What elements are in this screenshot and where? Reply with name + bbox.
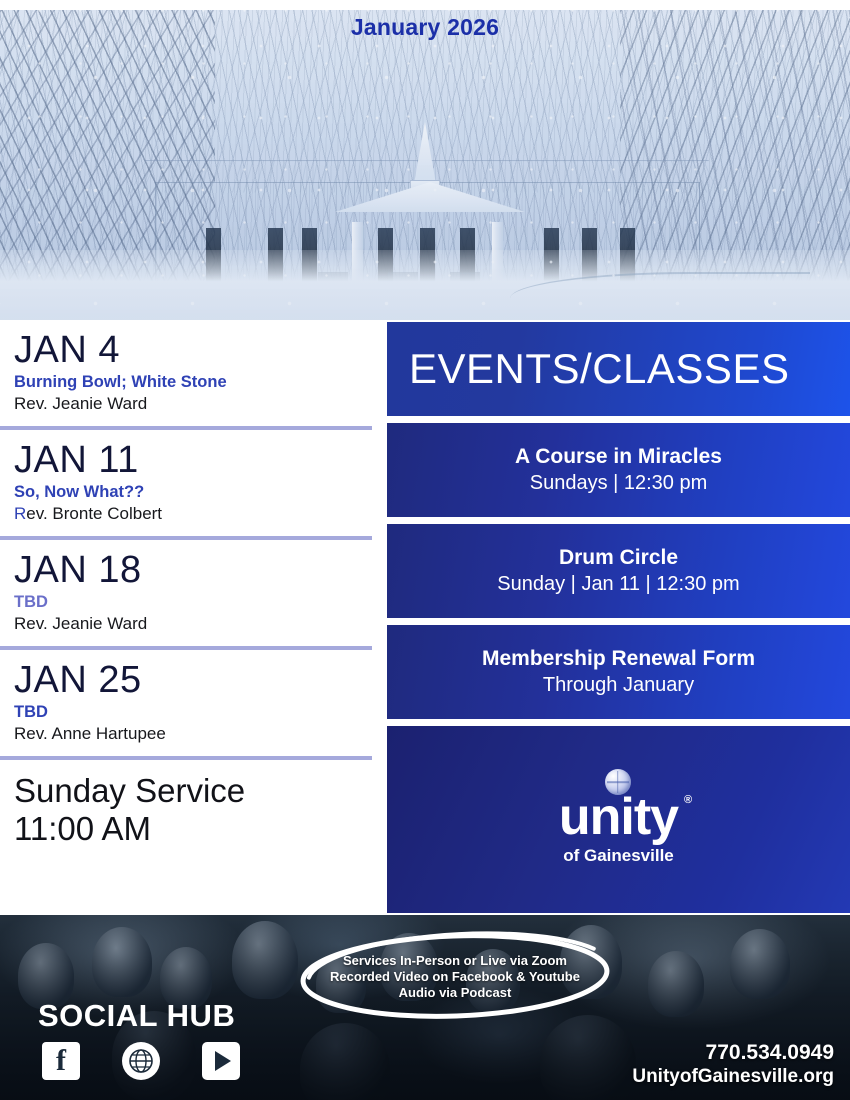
service-speaker-initial: R: [14, 504, 26, 523]
service-date: JAN 25: [14, 660, 364, 701]
event-subtitle: Sundays | 12:30 pm: [530, 470, 708, 496]
service-speaker: Rev. Jeanie Ward: [14, 394, 364, 414]
unity-logo: unity® of Gainesville: [519, 773, 719, 866]
hero-photo: [0, 10, 850, 320]
page-title: January 2026: [0, 14, 850, 41]
unity-wordmark: unity®: [559, 791, 678, 843]
event-subtitle: Sunday | Jan 11 | 12:30 pm: [497, 571, 739, 597]
unity-location-label: of Gainesville: [519, 846, 719, 866]
events-header: EVENTS/CLASSES: [387, 322, 850, 416]
service-entry: JAN 25 TBD Rev. Anne Hartupee: [0, 656, 378, 750]
service-speaker: Rev. Jeanie Ward: [14, 614, 364, 634]
broadcast-line-2: Recorded Video on Facebook & Youtube: [330, 969, 580, 984]
event-card[interactable]: Membership Renewal Form Through January: [387, 625, 850, 719]
broadcast-info-callout: Services In-Person or Live via Zoom Reco…: [295, 930, 615, 1022]
service-topic: So, Now What??: [14, 483, 364, 502]
section-divider: [0, 756, 372, 760]
facebook-icon[interactable]: f: [42, 1042, 80, 1080]
services-column: JAN 4 Burning Bowl; White Stone Rev. Jea…: [0, 322, 378, 914]
phone-number[interactable]: 770.534.0949: [632, 1040, 834, 1065]
service-entry: JAN 11 So, Now What?? Rev. Bronte Colber…: [0, 436, 378, 530]
event-title: Drum Circle: [559, 545, 678, 570]
service-date: JAN 4: [14, 330, 364, 371]
broadcast-info-text: Services In-Person or Live via Zoom Reco…: [295, 930, 615, 1022]
event-title: Membership Renewal Form: [482, 646, 755, 671]
section-divider: [0, 426, 372, 430]
social-icons: f: [42, 1042, 240, 1080]
service-topic: TBD: [14, 593, 364, 612]
service-speaker: Rev. Anne Hartupee: [14, 724, 364, 744]
service-speaker: Rev. Bronte Colbert: [14, 504, 364, 524]
social-hub-heading: SOCIAL HUB: [38, 998, 235, 1034]
service-date: JAN 11: [14, 440, 364, 481]
events-header-label: EVENTS/CLASSES: [409, 345, 789, 393]
event-title: A Course in Miracles: [515, 444, 722, 469]
service-entry: JAN 18 TBD Rev. Jeanie Ward: [0, 546, 378, 640]
section-divider: [0, 536, 372, 540]
contact-info: 770.534.0949 UnityofGainesville.org: [632, 1040, 834, 1089]
event-card[interactable]: A Course in Miracles Sundays | 12:30 pm: [387, 423, 850, 517]
sunday-service-label: Sunday Service: [14, 772, 364, 810]
sunday-service-block: Sunday Service 11:00 AM: [0, 766, 378, 847]
service-date: JAN 18: [14, 550, 364, 591]
broadcast-line-3: Audio via Podcast: [399, 985, 512, 1000]
hero-blue-tint: [0, 10, 850, 320]
broadcast-line-1: Services In-Person or Live via Zoom: [343, 953, 567, 968]
events-column: EVENTS/CLASSES A Course in Miracles Sund…: [387, 322, 850, 914]
event-card[interactable]: Drum Circle Sunday | Jan 11 | 12:30 pm: [387, 524, 850, 618]
service-topic: Burning Bowl; White Stone: [14, 373, 364, 392]
service-speaker-rest: ev. Bronte Colbert: [26, 504, 162, 523]
website-globe-icon[interactable]: [122, 1042, 160, 1080]
section-divider: [0, 646, 372, 650]
flyer-page: January 2026 JAN 4 Burning Bowl; White S…: [0, 0, 850, 1100]
website-url[interactable]: UnityofGainesville.org: [632, 1065, 834, 1089]
youtube-icon[interactable]: [202, 1042, 240, 1080]
facebook-glyph: f: [56, 1046, 66, 1076]
sunday-service-time: 11:00 AM: [14, 810, 364, 848]
service-entry: JAN 4 Burning Bowl; White Stone Rev. Jea…: [0, 326, 378, 420]
unity-logo-panel: unity® of Gainesville: [387, 726, 850, 913]
registered-trademark-icon: ®: [684, 795, 691, 806]
globe-svg: [126, 1046, 156, 1076]
event-subtitle: Through January: [543, 672, 694, 698]
service-topic: TBD: [14, 703, 364, 722]
